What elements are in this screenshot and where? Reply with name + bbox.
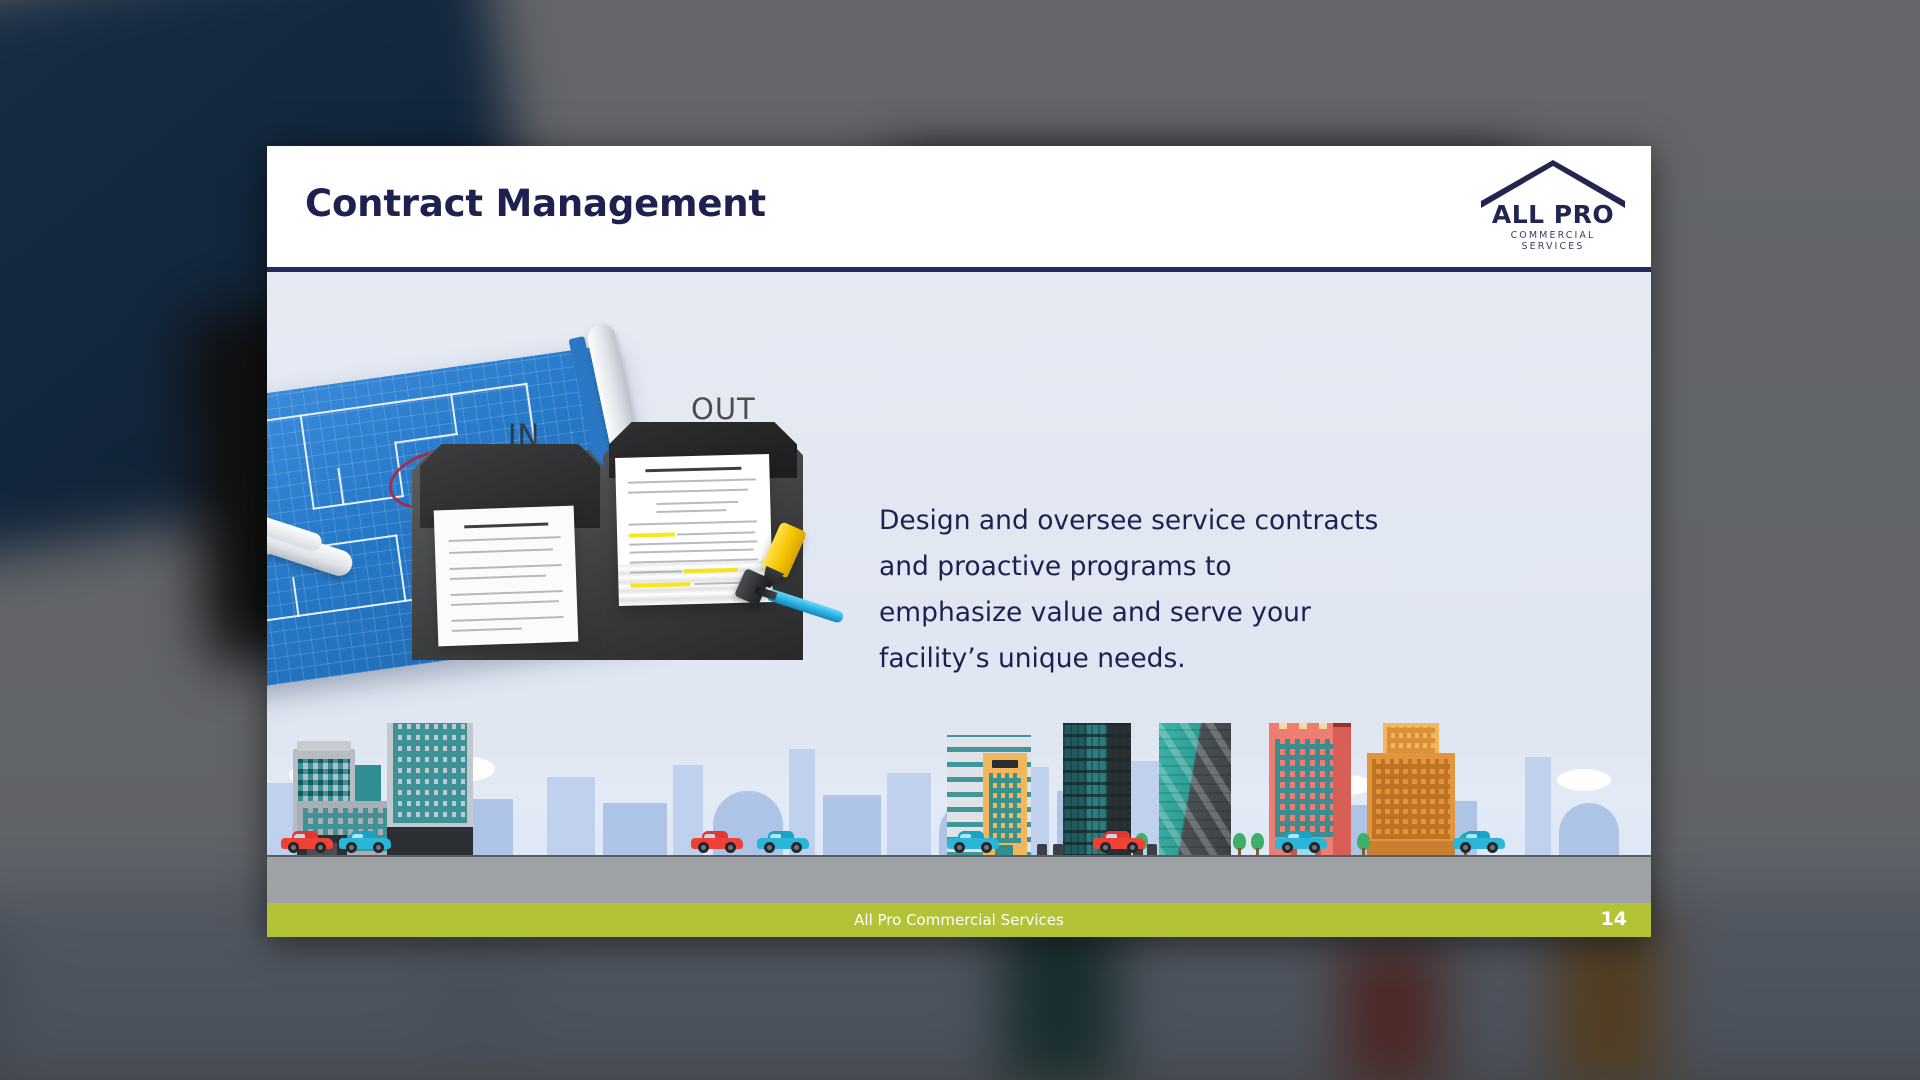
car-red <box>691 833 743 853</box>
out-tray-label: OUT <box>691 392 756 426</box>
in-tray: IN <box>412 424 608 660</box>
out-tray: OUT <box>603 408 803 660</box>
slide-header: Contract Management ALL PRO COMMERCIAL S… <box>267 146 1651 267</box>
car-teal <box>1453 833 1505 853</box>
car-teal <box>1275 833 1327 853</box>
logo-tagline: COMMERCIAL SERVICES <box>1477 230 1629 252</box>
car-teal <box>339 833 391 853</box>
screen: Contract Management ALL PRO COMMERCIAL S… <box>0 0 1920 1080</box>
car-teal <box>757 833 809 853</box>
car-teal <box>947 833 999 853</box>
page-title: Contract Management <box>305 182 766 225</box>
city-skyline-illustration <box>267 723 1651 903</box>
road <box>267 857 1651 903</box>
logo-wordmark: ALL PRO <box>1477 200 1629 229</box>
building-curved-glass <box>1159 723 1231 857</box>
presentation-slide: Contract Management ALL PRO COMMERCIAL S… <box>267 146 1651 937</box>
body-text: Design and oversee service contracts and… <box>879 498 1379 682</box>
footer-company-name: All Pro Commercial Services <box>267 911 1651 929</box>
car-red <box>1093 833 1145 853</box>
slide-body: IN OUT <box>267 272 1651 903</box>
page-number: 14 <box>1601 908 1627 930</box>
car-red <box>281 833 333 853</box>
building-highrise-main <box>387 723 473 857</box>
slide-footer: All Pro Commercial Services 14 <box>267 903 1651 937</box>
all-pro-logo: ALL PRO COMMERCIAL SERVICES <box>1477 160 1629 252</box>
contract-document <box>434 506 579 647</box>
